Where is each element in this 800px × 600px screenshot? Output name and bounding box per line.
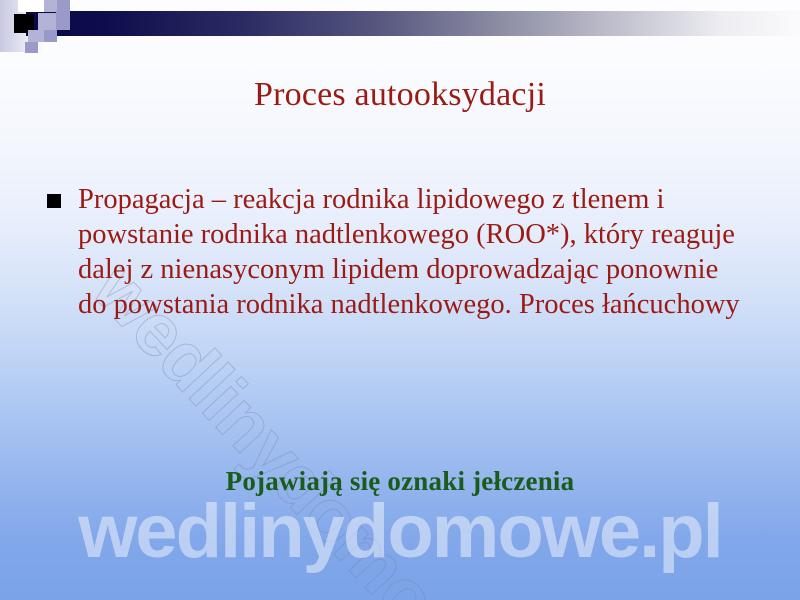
slide-body: Propagacja – reakcja rodnika lipidowego … — [46, 182, 746, 322]
decor-square-4 — [38, 13, 56, 30]
bullet-list-item: Propagacja – reakcja rodnika lipidowego … — [46, 182, 746, 322]
slide-canvas: wedlinydomowe.pl wedlinydomowe.pl Proces… — [0, 0, 800, 600]
decor-square-navy — [57, 30, 70, 36]
decor-square-5 — [56, 11, 70, 30]
decor-square-3 — [18, 0, 44, 12]
header-gradient-bar — [26, 11, 800, 36]
decor-square-7 — [44, 30, 57, 42]
bullet-item-text: Propagacja – reakcja rodnika lipidowego … — [78, 184, 740, 320]
bottom-watermark: wedlinydomowe.pl — [0, 488, 800, 575]
square-bullet-icon — [47, 194, 61, 208]
slide-title: Proces autooksydacji — [0, 76, 800, 114]
highlight-conclusion-text: Pojawiają się oznaki jełczenia — [0, 466, 800, 497]
decor-square-6 — [28, 30, 44, 42]
decor-square-8 — [25, 42, 38, 53]
